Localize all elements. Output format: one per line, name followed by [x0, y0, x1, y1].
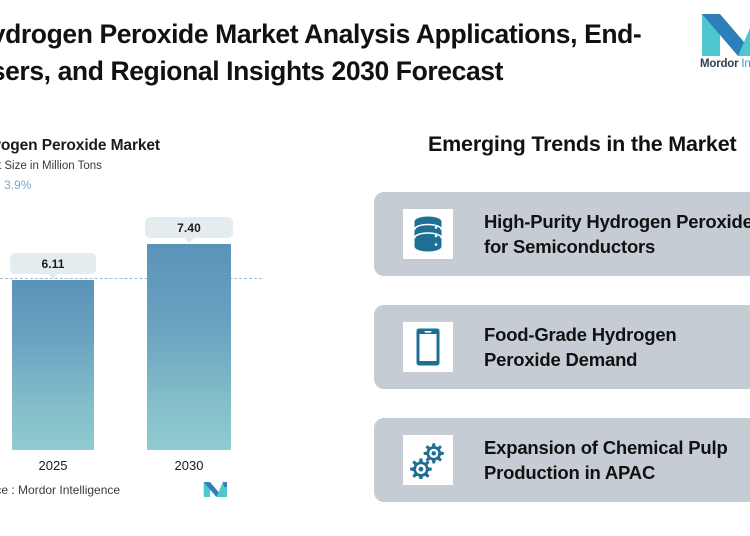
trend-card-label: Food-Grade Hydrogen Peroxide Demand	[484, 322, 677, 372]
chart-source-label: Source : Mordor Intelligence	[0, 483, 120, 497]
bar-2030	[147, 244, 231, 450]
brand-name: Mordor Intelligence	[700, 58, 750, 70]
trend-card[interactable]: High-Purity Hydrogen Peroxide for Semico…	[374, 192, 750, 276]
trend-card[interactable]: Food-Grade Hydrogen Peroxide Demand	[374, 305, 750, 389]
page-header: Hydrogen Peroxide Market Analysis Applic…	[0, 0, 750, 112]
mordor-m-logo-icon	[700, 8, 750, 56]
mobile-phone-icon	[415, 327, 441, 367]
trend-icon-box	[403, 435, 453, 485]
trend-icon-box	[403, 322, 453, 372]
brand-logo: Mordor Intelligence	[700, 8, 750, 76]
chart-source-row: Source : Mordor Intelligence	[0, 480, 350, 510]
x-axis-label-2025: 2025	[12, 458, 94, 473]
chart-panel: Hydrogen Peroxide Market Market Size in …	[0, 120, 350, 520]
trends-heading: Emerging Trends in the Market	[428, 132, 736, 157]
database-drum-icon	[411, 215, 445, 253]
trend-icon-box	[403, 209, 453, 259]
mordor-m-logo-small-icon	[203, 480, 227, 497]
trends-panel: Emerging Trends in the Market High-Purit…	[360, 120, 750, 530]
trend-card[interactable]: Expansion of Chemical Pulp Production in…	[374, 418, 750, 502]
bar-value-label-2025: 6.11	[10, 253, 96, 274]
page-title: Hydrogen Peroxide Market Analysis Applic…	[0, 16, 672, 90]
trend-card-label: Expansion of Chemical Pulp Production in…	[484, 435, 728, 485]
gears-icon	[408, 441, 448, 479]
bar-chart-plot: 6.11 7.40 2025 2030	[0, 120, 350, 460]
bar-2025	[12, 280, 94, 450]
trend-card-label: High-Purity Hydrogen Peroxide for Semico…	[484, 209, 750, 259]
x-axis-label-2030: 2030	[147, 458, 231, 473]
bar-value-label-2030: 7.40	[145, 217, 233, 238]
brand-name-light: Intelligence	[741, 58, 750, 70]
brand-name-bold: Mordor	[700, 58, 741, 70]
